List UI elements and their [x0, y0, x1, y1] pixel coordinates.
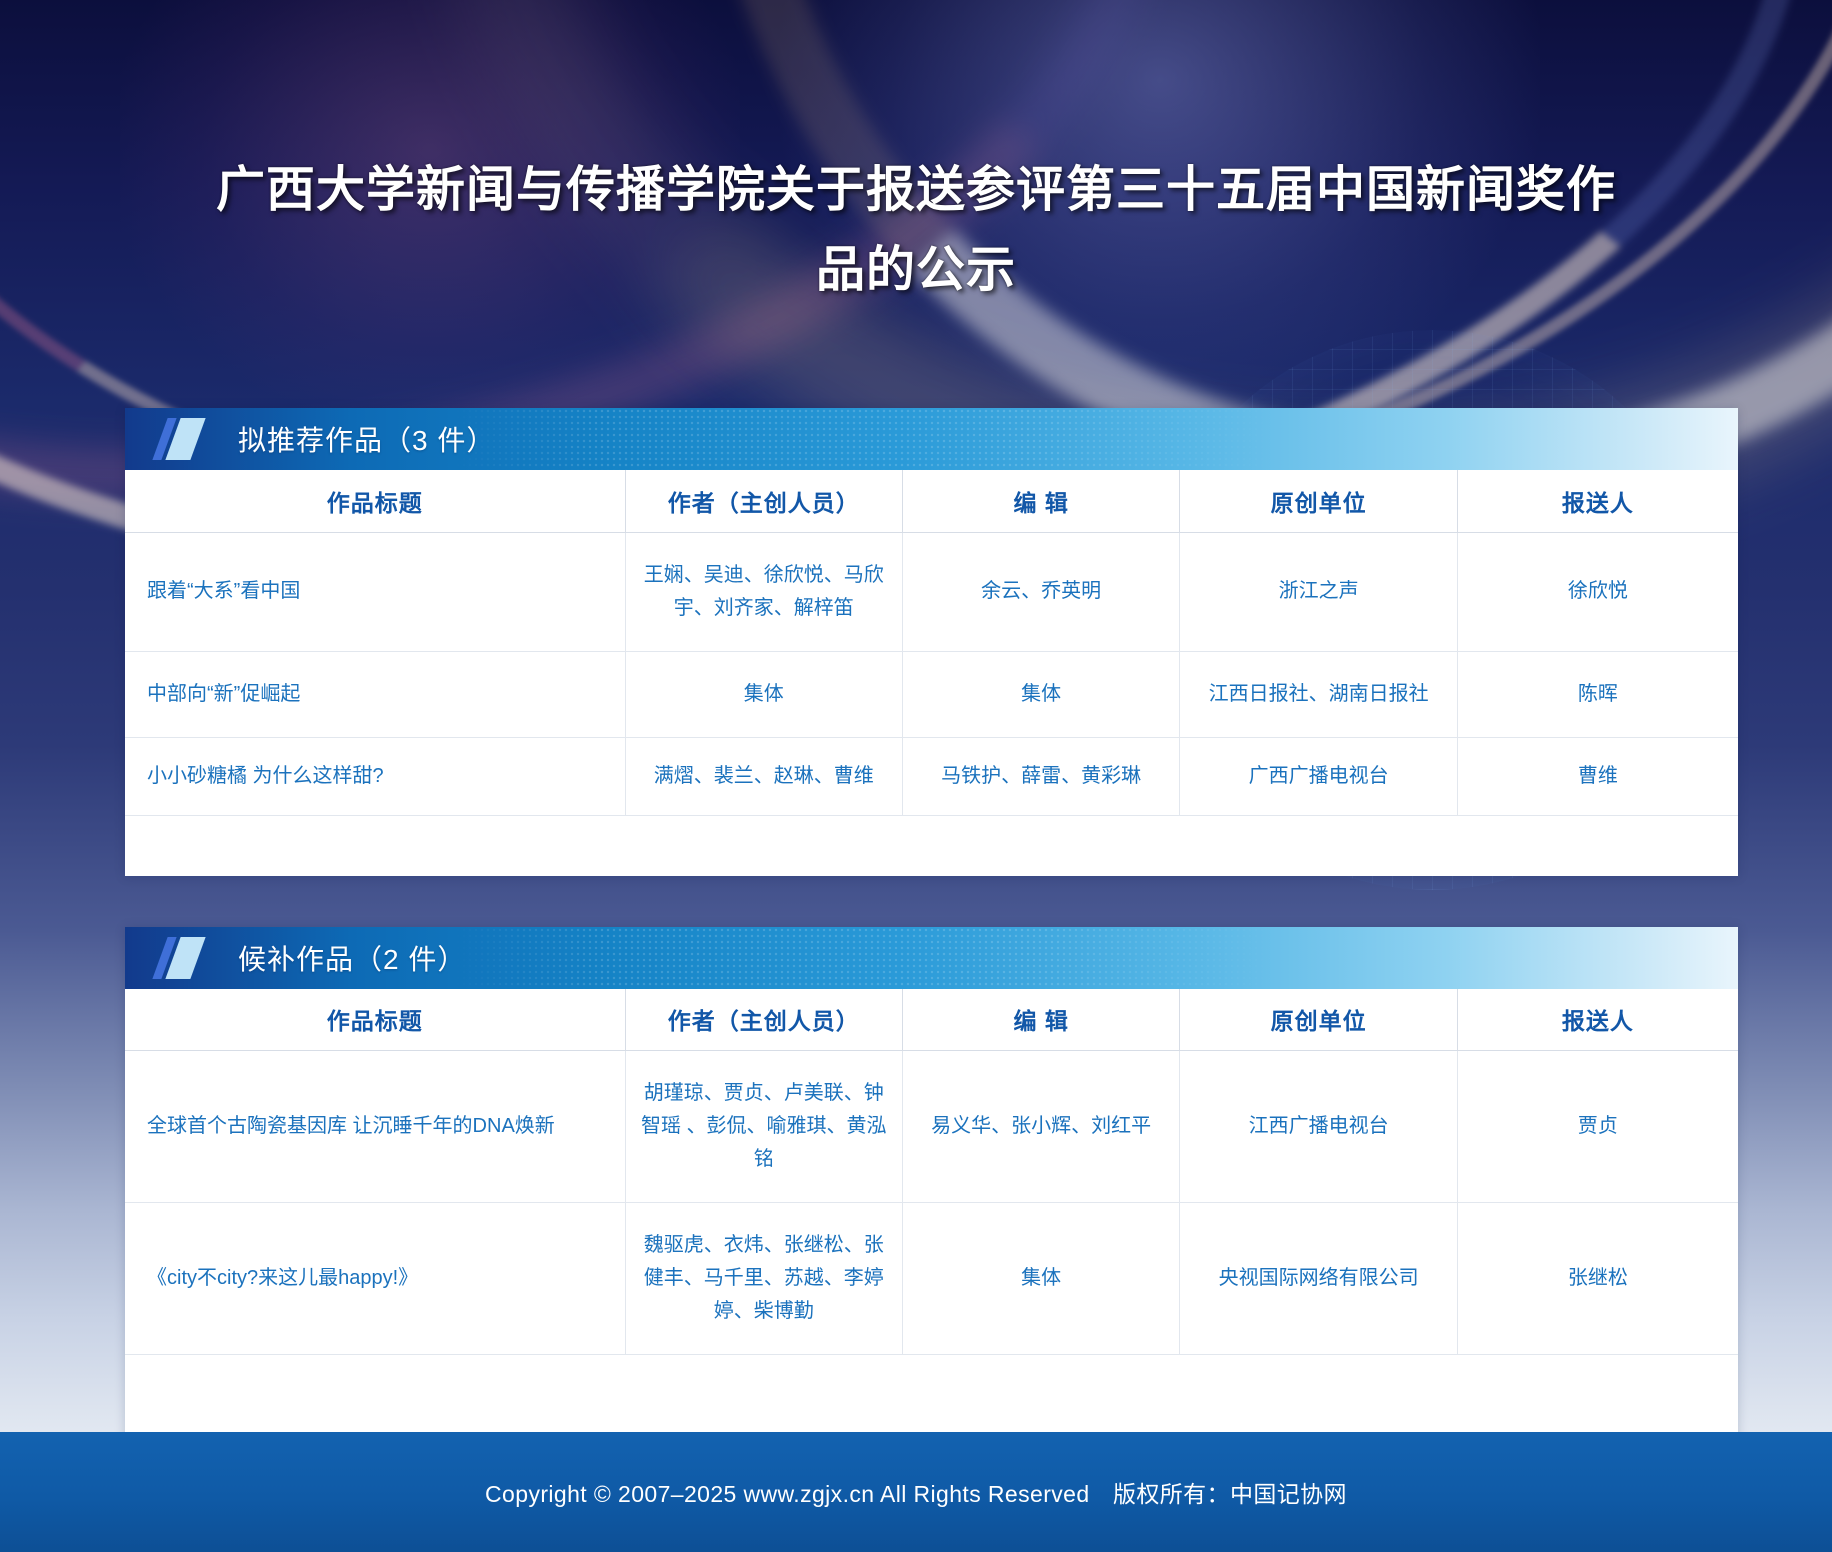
- cell-unit: 央视国际网络有限公司: [1180, 1203, 1457, 1355]
- cell-submitter: 张继松: [1457, 1203, 1738, 1355]
- column-header-title: 作品标题: [125, 989, 625, 1051]
- cell-submitter: 陈晖: [1457, 651, 1738, 737]
- cell-unit: 浙江之声: [1180, 532, 1457, 651]
- cell-title: 中部向“新”促崛起: [125, 651, 625, 737]
- cell-submitter: 徐欣悦: [1457, 532, 1738, 651]
- panel-spacer: [125, 816, 1738, 876]
- panel-spacer: [125, 1355, 1738, 1441]
- cell-editors: 集体: [902, 1203, 1179, 1355]
- cell-authors: 魏驱虎、衣炜、张继松、张健丰、马千里、苏越、李婷婷、柴博勤: [625, 1203, 902, 1355]
- column-header-title: 作品标题: [125, 470, 625, 532]
- cell-unit: 江西广播电视台: [1180, 1051, 1457, 1203]
- copyright-text: Copyright © 2007–2025 www.zgjx.cn All Ri…: [485, 1475, 1347, 1509]
- table-row: 跟着“大系”看中国 王娴、吴迪、徐欣悦、马欣宇、刘齐家、解梓笛 余云、乔英明 浙…: [125, 532, 1738, 651]
- cell-unit: 江西日报社、湖南日报社: [1180, 651, 1457, 737]
- cell-authors: 王娴、吴迪、徐欣悦、马欣宇、刘齐家、解梓笛: [625, 532, 902, 651]
- cell-editors: 集体: [902, 651, 1179, 737]
- cell-title: 小小砂糖橘 为什么这样甜?: [125, 737, 625, 815]
- slash-parallelogram-icon: [160, 418, 208, 460]
- table-header-row: 作品标题 作者（主创人员） 编 辑 原创单位 报送人: [125, 470, 1738, 532]
- page-title: 广西大学新闻与传播学院关于报送参评第三十五届中国新闻奖作品的公示: [0, 150, 1832, 310]
- section-title-alternate: 候补作品（2 件）: [238, 938, 466, 978]
- table-row: 小小砂糖橘 为什么这样甜? 满熠、裴兰、赵琳、曹维 马铁护、薛雷、黄彩琳 广西广…: [125, 737, 1738, 815]
- column-header-unit: 原创单位: [1180, 470, 1457, 532]
- table-header-row: 作品标题 作者（主创人员） 编 辑 原创单位 报送人: [125, 989, 1738, 1051]
- slash-parallelogram-icon: [160, 937, 208, 979]
- cell-authors: 集体: [625, 651, 902, 737]
- column-header-submitter: 报送人: [1457, 989, 1738, 1051]
- cell-submitter: 曹维: [1457, 737, 1738, 815]
- cell-authors: 满熠、裴兰、赵琳、曹维: [625, 737, 902, 815]
- cell-editors: 易义华、张小辉、刘红平: [902, 1051, 1179, 1203]
- section-panel-recommended: 拟推荐作品（3 件） 作品标题 作者（主创人员） 编 辑 原创单位 报送人 跟着…: [125, 408, 1738, 876]
- cell-title: 跟着“大系”看中国: [125, 532, 625, 651]
- page-footer: Copyright © 2007–2025 www.zgjx.cn All Ri…: [0, 1432, 1832, 1552]
- section-title-recommended: 拟推荐作品（3 件）: [238, 419, 495, 459]
- awards-table-alternate: 作品标题 作者（主创人员） 编 辑 原创单位 报送人 全球首个古陶瓷基因库 让沉…: [125, 989, 1738, 1356]
- cell-unit: 广西广播电视台: [1180, 737, 1457, 815]
- section-header-alternate: 候补作品（2 件）: [125, 927, 1738, 989]
- column-header-authors: 作者（主创人员）: [625, 989, 902, 1051]
- content-panels: 拟推荐作品（3 件） 作品标题 作者（主创人员） 编 辑 原创单位 报送人 跟着…: [125, 408, 1738, 1441]
- table-row: 中部向“新”促崛起 集体 集体 江西日报社、湖南日报社 陈晖: [125, 651, 1738, 737]
- cell-editors: 马铁护、薛雷、黄彩琳: [902, 737, 1179, 815]
- page-root: 广西大学新闻与传播学院关于报送参评第三十五届中国新闻奖作品的公示 拟推荐作品（3…: [0, 0, 1832, 1552]
- section-panel-alternate: 候补作品（2 件） 作品标题 作者（主创人员） 编 辑 原创单位 报送人 全球首…: [125, 927, 1738, 1442]
- column-header-submitter: 报送人: [1457, 470, 1738, 532]
- cell-authors: 胡瑾琼、贾贞、卢美联、钟智瑶 、彭侃、喻雅琪、黄泓铭: [625, 1051, 902, 1203]
- column-header-editors: 编 辑: [902, 470, 1179, 532]
- column-header-unit: 原创单位: [1180, 989, 1457, 1051]
- section-header-recommended: 拟推荐作品（3 件）: [125, 408, 1738, 470]
- awards-table-recommended: 作品标题 作者（主创人员） 编 辑 原创单位 报送人 跟着“大系”看中国 王娴、…: [125, 470, 1738, 816]
- cell-submitter: 贾贞: [1457, 1051, 1738, 1203]
- cell-title: 《city不city?来这儿最happy!》: [125, 1203, 625, 1355]
- column-header-editors: 编 辑: [902, 989, 1179, 1051]
- cell-title: 全球首个古陶瓷基因库 让沉睡千年的DNA焕新: [125, 1051, 625, 1203]
- cell-editors: 余云、乔英明: [902, 532, 1179, 651]
- column-header-authors: 作者（主创人员）: [625, 470, 902, 532]
- table-row: 《city不city?来这儿最happy!》 魏驱虎、衣炜、张继松、张健丰、马千…: [125, 1203, 1738, 1355]
- table-row: 全球首个古陶瓷基因库 让沉睡千年的DNA焕新 胡瑾琼、贾贞、卢美联、钟智瑶 、彭…: [125, 1051, 1738, 1203]
